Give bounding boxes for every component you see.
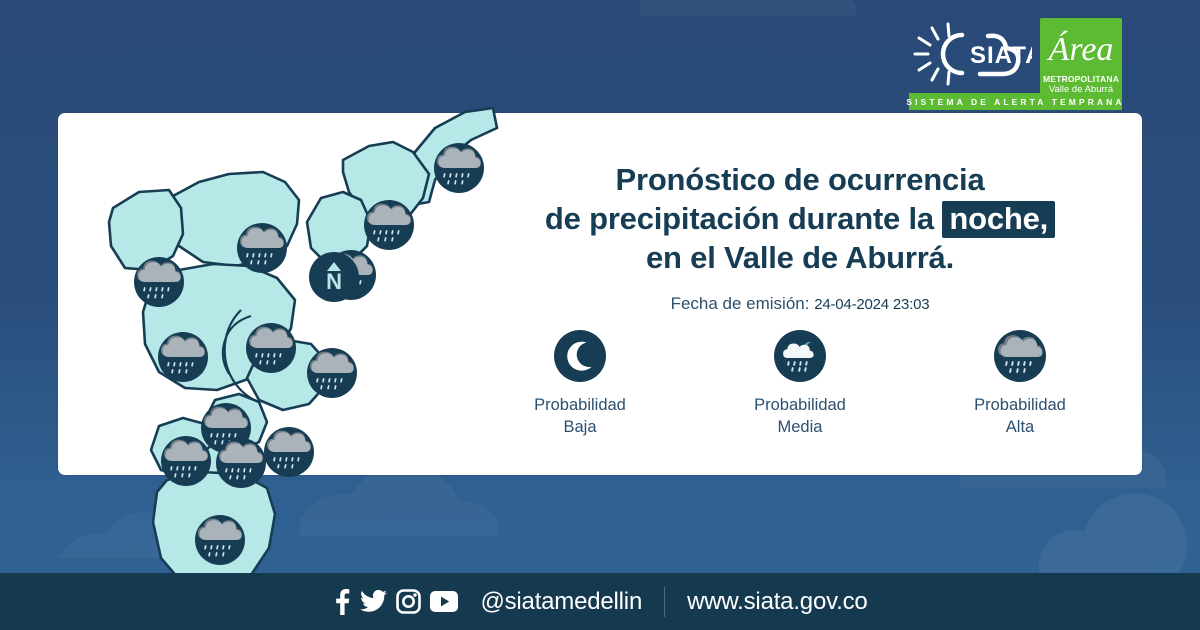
area-script-icon: Área (1045, 22, 1117, 74)
twitter-icon[interactable] (360, 590, 387, 613)
headline-block: Pronóstico de ocurrencia de precipitació… (470, 160, 1130, 314)
compass-north-indicator: N (309, 252, 359, 302)
weather-marker-alta (237, 223, 287, 273)
footer-divider (664, 587, 665, 617)
compass-label: N (326, 269, 342, 294)
legend-item-media: Probabilidad Media (708, 330, 893, 438)
legend-label-alta: Probabilidad Alta (928, 394, 1113, 438)
cloud-heavy-rain-icon (994, 330, 1046, 382)
weather-marker-alta (246, 323, 296, 373)
area-metropolitana-logo: Área METROPOLITANA Valle de Aburrá (1040, 18, 1122, 100)
instagram-icon[interactable] (396, 589, 421, 614)
youtube-icon[interactable] (430, 591, 458, 612)
logo-group: SIATA Área METROPOLITANA Valle de Aburrá (910, 18, 1122, 100)
legend-label-line2: Media (708, 416, 893, 438)
legend-label-line1: Probabilidad (708, 394, 893, 416)
emission-date: Fecha de emisión: 24-04-2024 23:03 (470, 294, 1130, 314)
headline-line-1: Pronóstico de ocurrencia (470, 160, 1130, 199)
headline-line-3: en el Valle de Aburrá. (470, 238, 1130, 277)
siata-logo: SIATA (910, 18, 1032, 90)
page-title: Pronóstico de ocurrencia de precipitació… (470, 160, 1130, 277)
legend-item-alta: Probabilidad Alta (928, 330, 1113, 438)
valle-de-aburra-map: N (55, 48, 475, 568)
infographic-root: N Pronóstico de ocurrencia de precipitac… (0, 0, 1200, 630)
probability-legend: Probabilidad Baja (470, 330, 1130, 438)
weather-marker-alta (195, 515, 245, 565)
social-handle[interactable]: @siatamedellin (480, 588, 642, 616)
emission-label: Fecha de emisión: (671, 294, 810, 313)
legend-label-line1: Probabilidad (488, 394, 673, 416)
headline-line-2: de precipitación durante la noche, (470, 199, 1130, 238)
legend-label-line2: Baja (488, 416, 673, 438)
weather-marker-alta (264, 427, 314, 477)
legend-label-baja: Probabilidad Baja (488, 394, 673, 438)
footer-bar: @siatamedellin www.siata.gov.co (0, 573, 1200, 630)
facebook-icon[interactable] (332, 589, 351, 615)
social-links (332, 589, 458, 615)
weather-marker-alta (161, 436, 211, 486)
legend-label-line1: Probabilidad (928, 394, 1113, 416)
moon-icon (554, 330, 606, 382)
headline-highlight: noche, (942, 201, 1055, 238)
area-script-text: Área (1047, 31, 1114, 68)
website-link[interactable]: www.siata.gov.co (687, 588, 867, 616)
weather-marker-alta (364, 200, 414, 250)
legend-label-line2: Alta (928, 416, 1113, 438)
weather-marker-alta (307, 348, 357, 398)
legend-item-baja: Probabilidad Baja (488, 330, 673, 438)
siata-wordmark: SIATA (970, 42, 1032, 69)
headline-line-2-text: de precipitación durante la (545, 201, 934, 236)
weather-marker-alta (216, 438, 266, 488)
weather-marker-alta (134, 257, 184, 307)
emission-value: 24-04-2024 23:03 (814, 296, 929, 313)
legend-label-media: Probabilidad Media (708, 394, 893, 438)
tagline-bar: SISTEMA DE ALERTA TEMPRANA (909, 93, 1122, 110)
area-line-1: METROPOLITANA (1043, 74, 1119, 84)
cloud-moon-rain-icon (774, 330, 826, 382)
weather-marker-alta (158, 332, 208, 382)
